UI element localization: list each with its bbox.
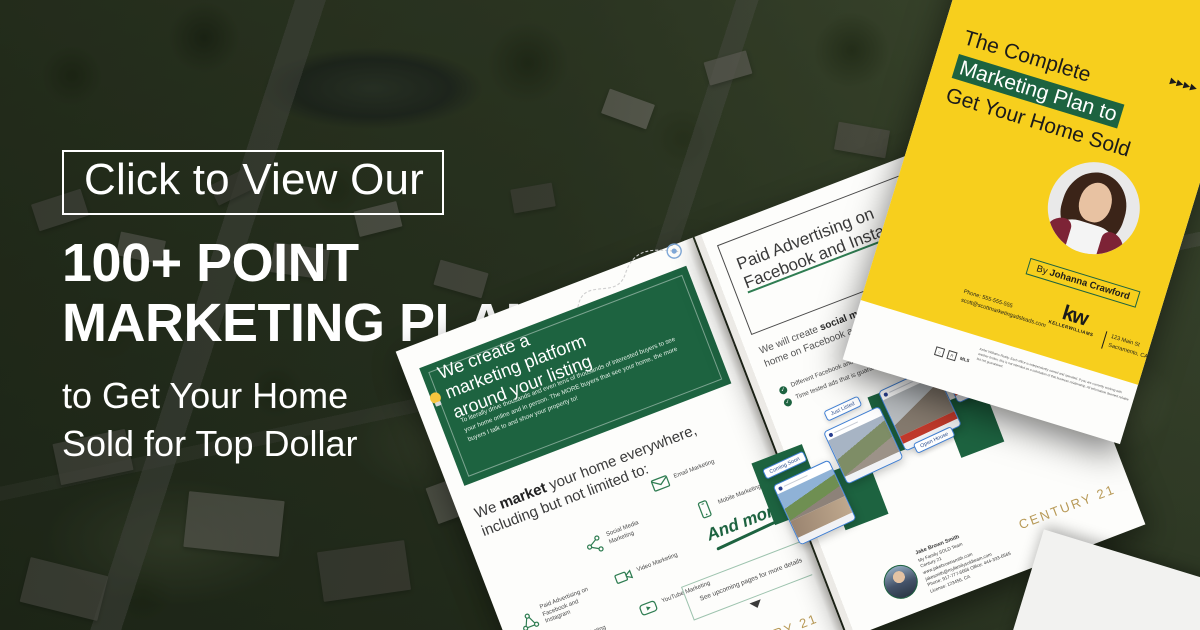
channel-social-media: Social Media Marketing <box>581 510 664 558</box>
check-icon: ✓ <box>783 397 793 407</box>
avatar <box>778 485 783 490</box>
channel-label: Print Marketing <box>567 619 622 630</box>
page-title-line-1: 100+ POINT <box>62 235 582 293</box>
channel-paid-advertising: Paid Advertising on Facebook and Instagr… <box>516 585 600 630</box>
cta-view-button[interactable]: Click to View Our <box>62 150 444 215</box>
channel-label: Video Marketing <box>636 548 691 575</box>
channel-video-marketing: Video Marketing <box>611 542 694 590</box>
see-more-text: See upcoming pages for more details <box>699 557 803 603</box>
cta-label: Click to View Our <box>84 158 424 203</box>
century21-brand-right: CENTURY 21 <box>1017 481 1118 532</box>
video-camera-icon <box>611 564 637 590</box>
check-icon: ✓ <box>778 385 788 395</box>
channel-label: Paid Advertising on Facebook and Instagr… <box>539 585 600 627</box>
agent-avatar <box>879 560 923 604</box>
avatar <box>883 391 888 396</box>
mls-icon: MLS <box>959 356 970 364</box>
avatar <box>828 432 833 437</box>
network-icon <box>516 608 542 630</box>
share-nodes-icon <box>581 532 607 558</box>
down-triangle-icon <box>749 599 763 610</box>
century21-brand-left: CENTURY 21 <box>719 611 820 630</box>
youtube-icon <box>635 595 661 621</box>
channel-label: Social Media Marketing <box>606 513 664 547</box>
mobile-phone-icon <box>692 496 718 522</box>
